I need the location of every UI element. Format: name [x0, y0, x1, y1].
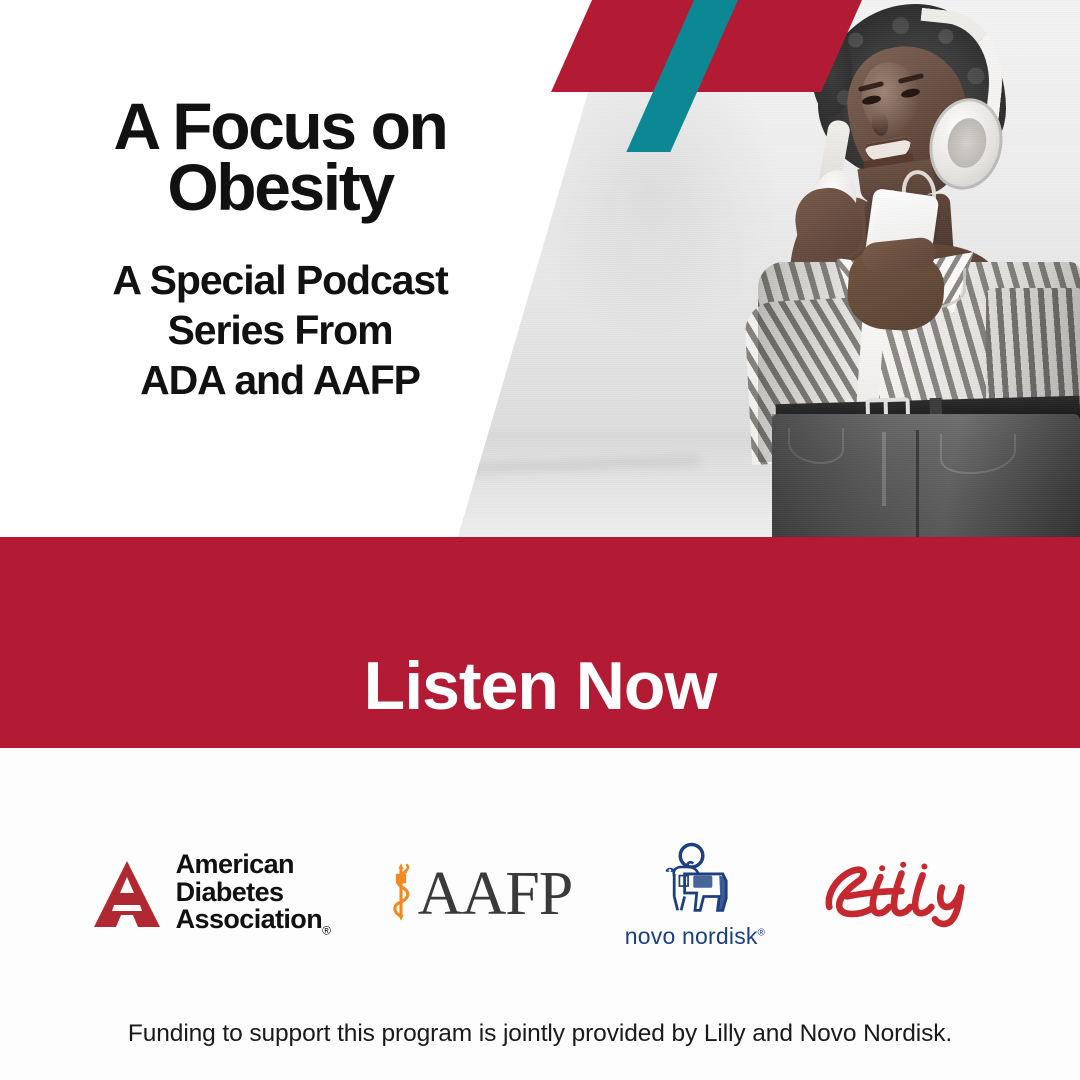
- novo-registered-mark: ®: [758, 927, 766, 938]
- page-subtitle: A Special Podcast Series From ADA and AA…: [56, 255, 504, 405]
- ada-line-3: Association: [176, 904, 322, 934]
- sponsor-logo-novo-nordisk[interactable]: novo nordisk®: [600, 841, 790, 948]
- aafp-rod-of-asclepius-icon: [388, 857, 414, 932]
- novo-nordisk-wordmark: novo nordisk®: [625, 925, 765, 948]
- hero-section: A Focus on Obesity A Special Podcast Ser…: [0, 0, 1080, 537]
- novo-nordisk-apis-bull-icon: [643, 841, 747, 924]
- ada-registered-mark: ®: [322, 924, 330, 938]
- listen-now-label: Listen Now: [364, 647, 717, 725]
- ada-wordmark: American Diabetes Association®: [176, 851, 331, 937]
- podcast-promo-ad: A Focus on Obesity A Special Podcast Ser…: [0, 0, 1080, 1080]
- headline-line-2: Obesity: [56, 157, 504, 218]
- ada-line-2: Diabetes: [176, 879, 331, 907]
- sponsor-logo-aafp[interactable]: AAFP: [360, 857, 600, 932]
- funding-statement: Funding to support this program is joint…: [0, 1020, 1080, 1048]
- sponsor-logo-ada[interactable]: American Diabetes Association®: [60, 851, 360, 937]
- subheadline-line-3: ADA and AAFP: [56, 355, 504, 405]
- ada-line-1: American: [176, 851, 331, 879]
- ada-triangle-logo-icon: [90, 857, 164, 931]
- hero-text-block: A Focus on Obesity A Special Podcast Ser…: [0, 0, 560, 537]
- sponsor-logo-lilly[interactable]: [790, 854, 1020, 935]
- ada-line-3-wrap: Association®: [176, 906, 331, 937]
- listen-now-button[interactable]: Listen Now: [0, 537, 1080, 748]
- subheadline-line-2: Series From: [56, 305, 504, 355]
- headline-line-1: A Focus on: [56, 96, 504, 157]
- sponsor-logo-row: American Diabetes Association®: [0, 834, 1080, 954]
- page-title: A Focus on Obesity: [56, 96, 504, 217]
- novo-nordisk-text: novo nordisk: [625, 923, 758, 949]
- sponsor-section: American Diabetes Association®: [0, 748, 1080, 1080]
- subheadline-line-1: A Special Podcast: [56, 255, 504, 305]
- aafp-wordmark: AAFP: [418, 863, 573, 925]
- lilly-script-logo-icon: [817, 854, 993, 935]
